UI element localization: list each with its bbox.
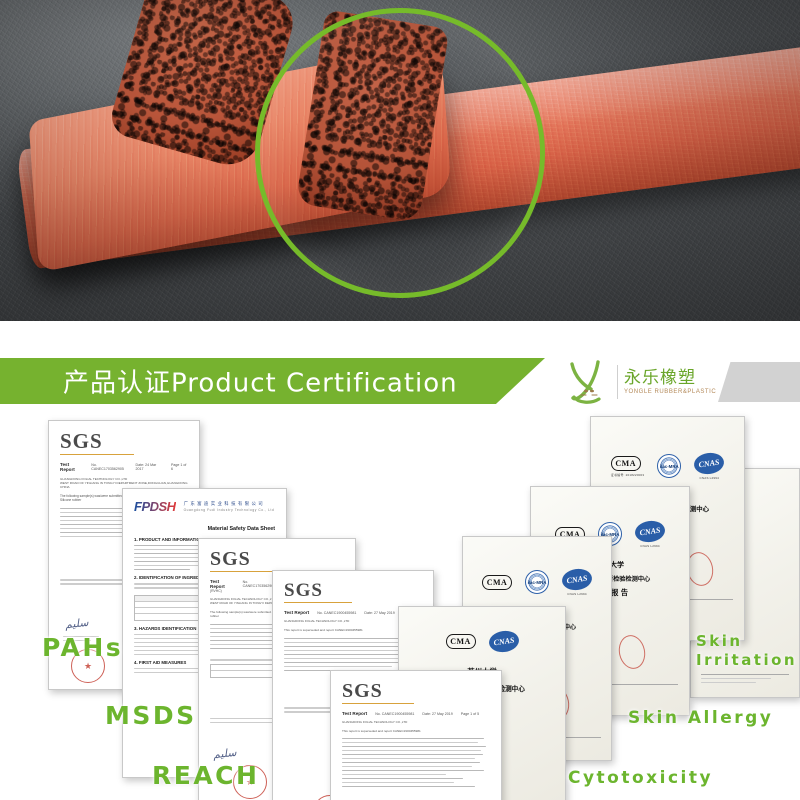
cma-icon: CMA (611, 456, 641, 471)
product-photo (0, 0, 800, 321)
cnas-icon: CNAS (561, 567, 594, 592)
magnifier-circle-highlight (255, 8, 545, 298)
msds-company-en: Guangdong Fudi Industry Technology Co., … (184, 508, 275, 512)
sgs-logo: SGS (342, 681, 490, 701)
doc-page: Page 1 of 6 (171, 463, 188, 471)
cnas-icon: CNAS (487, 629, 520, 654)
doc-type: Test Report (60, 462, 83, 472)
sgs-logo: SGS (60, 431, 188, 452)
doc-header-row: Test Report No. CANEC1900455981 Date: 27… (342, 711, 490, 716)
brand-logo: 永乐橡塑 YONGLE RUBBER&PLASTIC (565, 357, 725, 407)
brand-name-cn: 永乐橡塑 (624, 369, 716, 388)
cnas-code: CNAS L2994 (694, 476, 724, 480)
ilac-mra-icon: ilac-MRA (657, 454, 681, 478)
doc-date: Date: 24 Mar 2017 (135, 463, 163, 471)
page-title: 产品认证Product Certification (63, 363, 458, 400)
cnas-icon: CNAS (634, 519, 667, 544)
certification-tag-cytotoxicity: Cytotoxicity (568, 768, 713, 789)
brand-name-en: YONGLE RUBBER&PLASTIC (624, 389, 716, 395)
brand-text-block: 永乐橡塑 YONGLE RUBBER&PLASTIC (624, 369, 716, 396)
doc-ref-no: No. CANEC1900455981 (317, 611, 356, 615)
doc-signature: سليم (212, 746, 237, 761)
doc-client: GUANGDONG FOLIAL TECHNOLOGY CO.,LTD (342, 720, 490, 724)
accreditation-logos: CMA ilac-MRA CNAS CNAS L2994 (474, 569, 600, 596)
certification-tag-reach: REACH (152, 760, 259, 791)
doc-date: Date: 27 May 2019 (364, 611, 394, 615)
msds-company-cn: 广东富迪实业科技有限公司 (184, 501, 275, 507)
certification-tag-pahs: PAHs (42, 632, 123, 663)
product-certification-page: 产品认证Product Certification 永乐橡塑 YONGLE RU… (0, 0, 800, 800)
cma-icon: CMA (446, 634, 476, 649)
cnas-icon: CNAS (693, 451, 726, 476)
accreditation-logos: CMA 证书编号: 2018220003 ilac-MRA CNAS CNAS … (602, 453, 733, 480)
cnas-code: CNAS L2994 (562, 592, 592, 596)
doc-type: Test Report (342, 711, 367, 716)
doc-ref-no: No. CANEC1900455981 (375, 712, 414, 716)
ilac-mra-icon: ilac-MRA (525, 570, 549, 594)
doc-date: Date: 27 May 2019 (422, 712, 452, 716)
brand-divider (617, 365, 618, 399)
certificate-card[interactable]: SGS Test Report No. CANEC1900455981 Date… (330, 670, 502, 800)
doc-type: Test Report (210, 579, 235, 589)
sgs-logo-underline (284, 602, 352, 603)
doc-header-row: Test Report No. CANEC1703562905 Date: 24… (60, 462, 188, 472)
sgs-logo: SGS (210, 549, 344, 569)
yongle-leaf-mark-icon (565, 358, 611, 406)
certification-tag-skin-irritation: SkinIrritation (696, 632, 797, 670)
doc-page: Page 1 of 5 (461, 712, 479, 716)
sgs-logo-underline (210, 571, 280, 572)
cnas-code: CNAS L2994 (635, 544, 665, 548)
certificate-gallery: SGS Test Report No. CANEC1703562905 Date… (0, 408, 800, 800)
doc-intro: This report is superseded and report CAN… (342, 729, 490, 733)
accreditation-logos: CMA CNAS (410, 631, 554, 652)
msds-title: Material Safety Data Sheet (134, 526, 275, 532)
cma-icon: CMA (482, 575, 512, 590)
cma-code: 证书编号: 2018220003 (611, 473, 645, 477)
certification-tag-msds: MSDS (105, 700, 197, 731)
fpdsh-logo: FPDSH (134, 499, 176, 514)
msds-brand-row: FPDSH 广东富迪实业科技有限公司 Guangdong Fudi Indust… (134, 499, 275, 514)
doc-type: Test Report (284, 610, 309, 615)
sgs-logo: SGS (284, 581, 422, 600)
certification-tag-skin-allergy: Skin Allergy (628, 708, 773, 729)
banner-gray-shape (718, 362, 800, 402)
sgs-logo-underline (342, 703, 414, 704)
sgs-logo-underline (60, 454, 134, 455)
doc-ref-no: No. CANEC1703562905 (91, 463, 127, 471)
doc-signature: سليم (64, 616, 89, 631)
